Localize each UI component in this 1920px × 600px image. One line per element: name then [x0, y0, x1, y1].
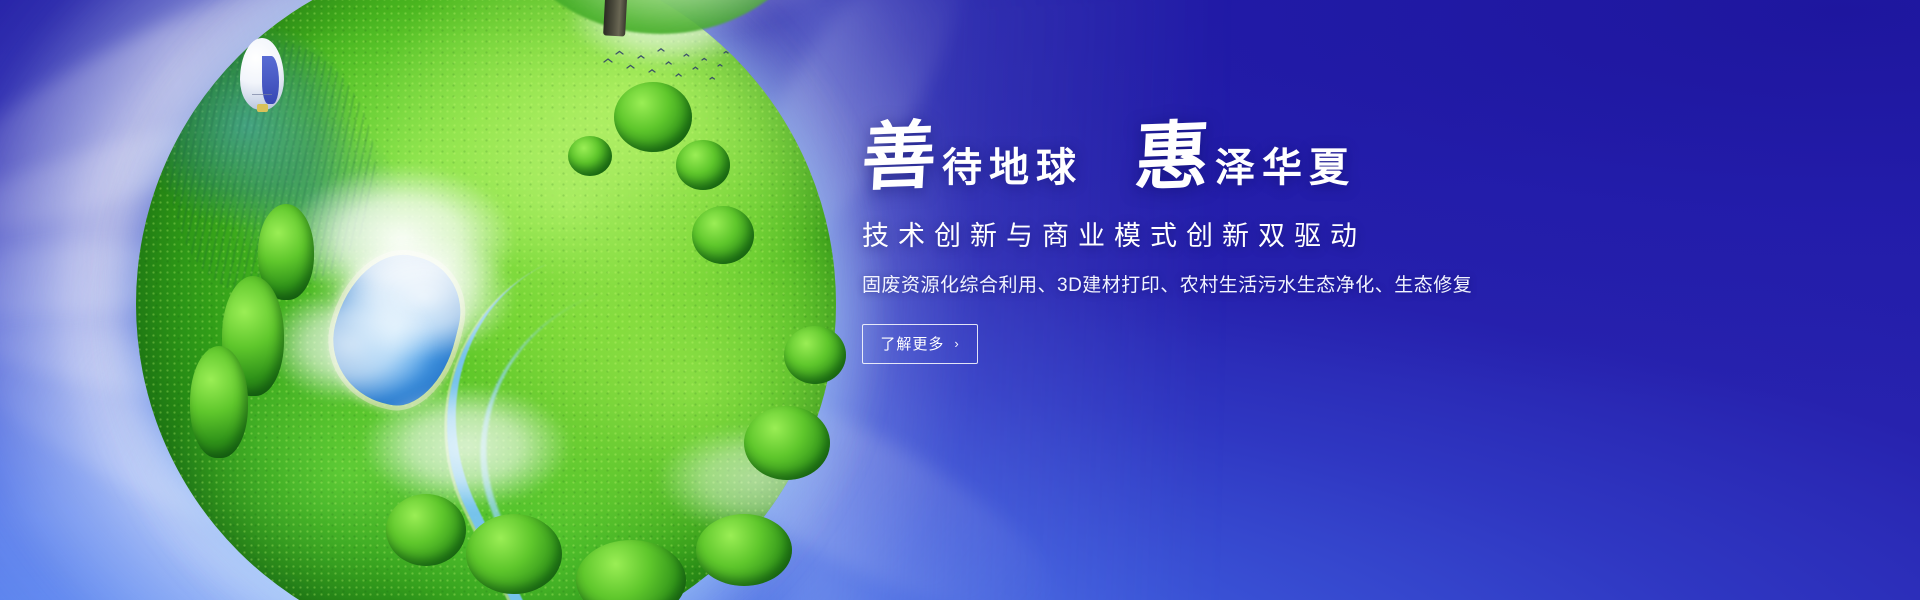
hero-banner: 善 待地球 惠 泽华夏 技术创新与商业模式创新双驱动 固废资源化综合利用、3D建… — [0, 0, 1920, 600]
banner-content: 善 待地球 惠 泽华夏 技术创新与商业模式创新双驱动 固废资源化综合利用、3D建… — [862, 120, 1622, 364]
headline: 善 待地球 惠 泽华夏 — [862, 120, 1622, 194]
banner-description: 固废资源化综合利用、3D建材打印、农村生活污水生态净化、生态修复 — [862, 273, 1622, 300]
flying-birds-icon — [600, 42, 730, 88]
rim-tree-icon — [744, 406, 830, 480]
planet-cloud-icon — [361, 384, 571, 509]
tree-canopy-icon — [692, 206, 754, 264]
rim-tree-icon — [696, 514, 792, 586]
headline-second-char: 惠 — [1133, 119, 1211, 196]
rim-tree-icon — [190, 346, 248, 458]
tree-canopy-icon — [614, 82, 692, 152]
learn-more-label: 了解更多 — [880, 333, 944, 354]
learn-more-button[interactable]: 了解更多 › — [862, 324, 978, 364]
headline-lead-char: 善 — [860, 119, 938, 196]
tree-canopy-icon — [568, 136, 612, 176]
headline-lead-rest: 待地球 — [942, 148, 1083, 194]
planet-cloud-icon — [266, 284, 436, 404]
headline-second-rest: 泽华夏 — [1215, 148, 1356, 194]
chevron-right-icon: › — [954, 336, 959, 351]
rim-tree-icon — [466, 514, 562, 594]
balloon-basket — [257, 104, 268, 112]
hot-air-balloon-icon — [240, 38, 284, 110]
tree-canopy-icon — [676, 140, 730, 190]
rim-tree-icon — [784, 326, 846, 384]
rim-tree-icon — [386, 494, 466, 566]
banner-subtitle: 技术创新与商业模式创新双驱动 — [862, 220, 1622, 252]
